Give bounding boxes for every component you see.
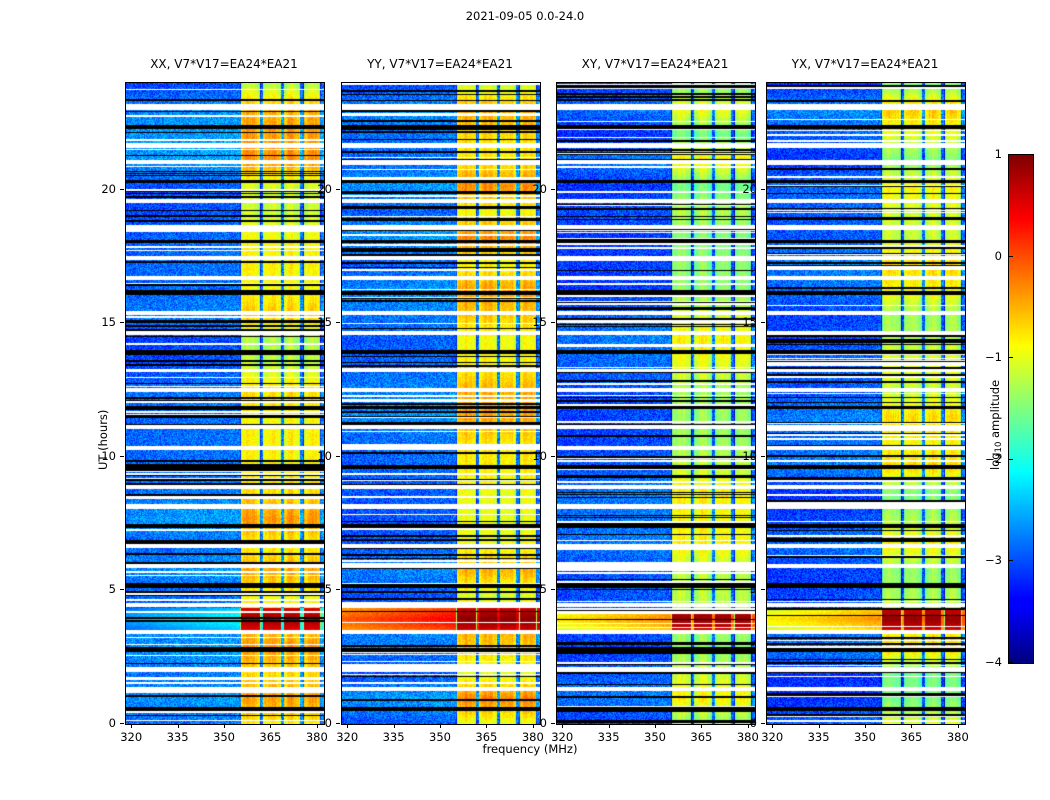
x-tickmark [178,724,179,728]
panel-title-xx: XX, V7*V17=EA24*EA21 [104,57,344,71]
x-tick-label: 335 [374,730,414,744]
colorbar-label-prefix: log [988,452,1002,470]
y-tickmark [551,589,555,590]
waterfall-image-xx [126,83,324,724]
y-tickmark [120,589,124,590]
y-tick-label: 5 [517,582,547,596]
y-tick-label: 0 [727,716,757,730]
colorbar-tick-label: −3 [976,553,1002,567]
x-tickmark [347,724,348,728]
x-tick-label: 365 [681,730,721,744]
waterfall-image-yx [767,83,965,724]
colorbar-tickmark [1008,357,1013,358]
colorbar-tickmark [1008,154,1013,155]
y-tick-label: 15 [86,315,116,329]
y-tickmark [336,589,340,590]
y-tick-label: 0 [302,716,332,730]
y-tick-label: 10 [517,449,547,463]
x-tickmark [911,724,912,728]
x-tick-label: 350 [204,730,244,744]
y-tick-label: 0 [517,716,547,730]
y-tickmark [120,456,124,457]
waterfall-plot-xy[interactable] [556,82,756,725]
x-tick-label: 335 [158,730,198,744]
x-tick-label: 350 [845,730,885,744]
x-tickmark [772,724,773,728]
y-tick-label: 5 [727,582,757,596]
panel-title-xy: XY, V7*V17=EA24*EA21 [535,57,775,71]
y-tickmark [551,456,555,457]
colorbar-label: log10 amplitude [988,380,1004,470]
y-tickmark [336,723,340,724]
y-tick-label: 5 [86,582,116,596]
y-tick-label: 10 [727,449,757,463]
y-tick-label: 20 [727,182,757,196]
colorbar-tick-label: −4 [976,655,1002,669]
y-tickmark [336,189,340,190]
y-tick-label: 5 [302,582,332,596]
x-tickmark [958,724,959,728]
x-tickmark [224,724,225,728]
y-tickmark [120,322,124,323]
y-tickmark [336,456,340,457]
x-tickmark [865,724,866,728]
y-tick-label: 0 [86,716,116,730]
y-tickmark [761,189,765,190]
y-tick-label: 15 [517,315,547,329]
y-tickmark [551,322,555,323]
x-tick-label: 335 [799,730,839,744]
colorbar-tickmark [1008,256,1013,257]
x-tick-label: 320 [752,730,792,744]
colorbar-tick-label: −1 [976,350,1002,364]
y-tick-label: 15 [302,315,332,329]
y-tick-label: 15 [727,315,757,329]
y-tick-label: 20 [302,182,332,196]
y-tickmark [761,723,765,724]
y-axis-label: UT (hours) [96,410,110,470]
x-tick-label: 320 [327,730,367,744]
y-tickmark [761,456,765,457]
panel-title-yx: YX, V7*V17=EA24*EA21 [745,57,985,71]
figure-suptitle: 2021-09-05 0.0-24.0 [0,9,1050,23]
y-tickmark [120,189,124,190]
x-tick-label: 365 [891,730,931,744]
waterfall-image-yy [342,83,540,724]
x-tickmark [562,724,563,728]
y-tick-label: 10 [302,449,332,463]
y-tickmark [336,322,340,323]
waterfall-plot-yy[interactable] [341,82,541,725]
figure-root: 2021-09-05 0.0-24.0 XX, V7*V17=EA24*EA21… [0,0,1050,800]
y-tick-label: 20 [86,182,116,196]
colorbar-tickmark [1008,459,1013,460]
colorbar-label-suffix: amplitude [988,380,1002,442]
colorbar-tickmark [1008,560,1013,561]
x-tickmark [394,724,395,728]
colorbar-label-subscript: 10 [994,442,1004,453]
y-tickmark [761,589,765,590]
colorbar [1008,154,1034,664]
y-tickmark [761,322,765,323]
x-tickmark [655,724,656,728]
x-tickmark [609,724,610,728]
x-tick-label: 380 [938,730,978,744]
y-tick-label: 20 [517,182,547,196]
panel-title-yy: YY, V7*V17=EA24*EA21 [320,57,560,71]
x-tickmark [131,724,132,728]
colorbar-gradient [1009,155,1033,663]
waterfall-image-xy [557,83,755,724]
x-tick-label: 320 [111,730,151,744]
x-axis-label: frequency (MHz) [430,742,630,756]
y-tickmark [551,189,555,190]
y-tickmark [551,723,555,724]
x-tickmark [270,724,271,728]
x-tick-label: 365 [250,730,290,744]
x-tick-label: 350 [635,730,675,744]
colorbar-tick-label: 1 [976,147,1002,161]
waterfall-plot-xx[interactable] [125,82,325,725]
x-tickmark [440,724,441,728]
colorbar-tick-label: 0 [976,249,1002,263]
waterfall-plot-yx[interactable] [766,82,966,725]
x-tickmark [819,724,820,728]
x-tickmark [701,724,702,728]
x-tickmark [486,724,487,728]
y-tickmark [120,723,124,724]
colorbar-tickmark [1008,662,1013,663]
